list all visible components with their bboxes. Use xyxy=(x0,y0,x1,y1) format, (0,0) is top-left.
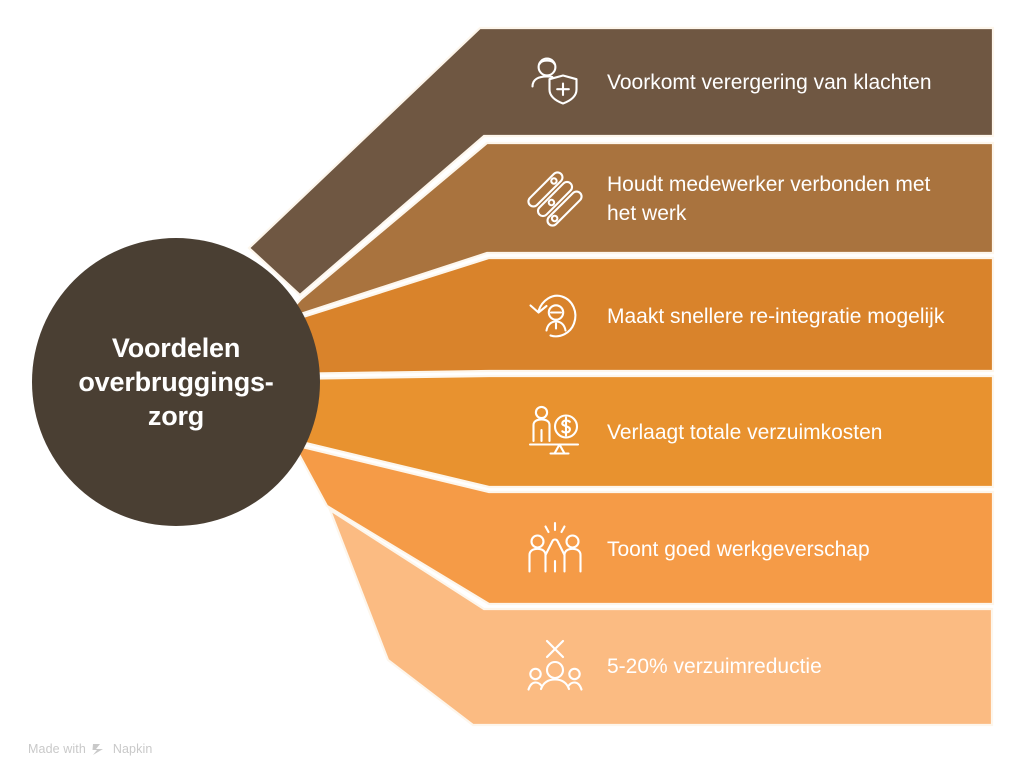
infographic-canvas: Voordelen overbruggings-zorg Voorkomt ve… xyxy=(0,0,1024,769)
watermark-prefix: Made with xyxy=(28,742,86,756)
hub-circle[interactable]: Voordelen overbruggings-zorg xyxy=(32,238,320,526)
napkin-watermark: Made with Napkin xyxy=(28,742,152,756)
watermark-brand: Napkin xyxy=(113,742,153,756)
hub-label: Voordelen overbruggings-zorg xyxy=(51,331,301,433)
napkin-chevrons-logo-icon xyxy=(92,743,107,756)
